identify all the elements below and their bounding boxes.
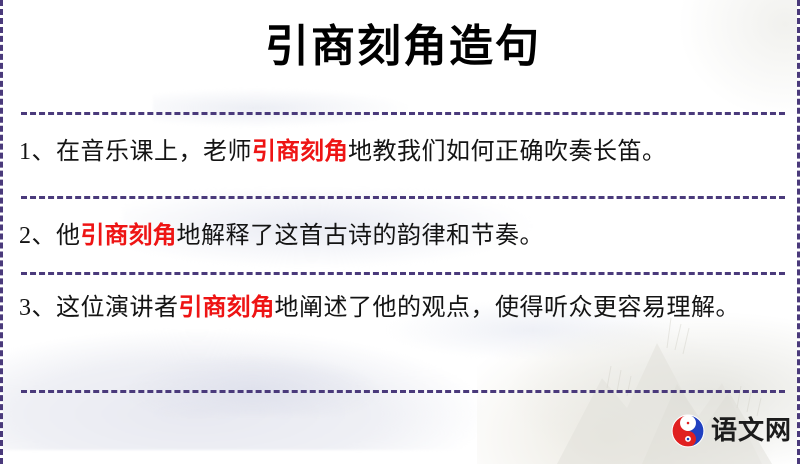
- sentence-text-before-2: 他: [56, 223, 81, 249]
- divider-1: [21, 112, 785, 115]
- divider-2: [21, 196, 785, 199]
- sentence-text-before-3: 这位演讲者: [56, 295, 179, 321]
- sentence-item-1: 1、在音乐课上，老师引商刻角地教我们如何正确吹奏长笛。: [19, 132, 783, 172]
- idiom-highlight-2: 引商刻角: [81, 223, 177, 249]
- sentence-item-2: 2、他引商刻角地解释了这首古诗的韵律和节奏。: [19, 216, 783, 256]
- sentence-text-after-3: 地阐述了他的观点，使得听众更容易理解。: [275, 295, 741, 321]
- worksheet-page: 引商刻角造句 1、在音乐课上，老师引商刻角地教我们如何正确吹奏长笛。 2、他引商…: [0, 0, 800, 464]
- logo-text: 语文网: [711, 418, 792, 444]
- page-title: 引商刻角造句: [3, 22, 800, 73]
- sentence-text-after-2: 地解释了这首古诗的韵律和节奏。: [177, 223, 545, 249]
- site-logo[interactable]: 语文网: [671, 414, 792, 448]
- divider-4: [21, 390, 785, 393]
- idiom-highlight-3: 引商刻角: [179, 295, 275, 321]
- sentence-number-3: 3、: [19, 295, 56, 321]
- sentence-number-1: 1、: [19, 139, 56, 165]
- yin-yang-fish-logo-icon: [671, 414, 705, 448]
- worksheet-content: 引商刻角造句 1、在音乐课上，老师引商刻角地教我们如何正确吹奏长笛。 2、他引商…: [3, 0, 800, 464]
- sentence-number-2: 2、: [19, 223, 56, 249]
- idiom-highlight-1: 引商刻角: [252, 139, 348, 165]
- sentence-text-after-1: 地教我们如何正确吹奏长笛。: [348, 139, 667, 165]
- sentence-item-3: 3、这位演讲者引商刻角地阐述了他的观点，使得听众更容易理解。: [19, 288, 783, 328]
- sentence-text-before-1: 在音乐课上，老师: [56, 139, 252, 165]
- divider-3: [21, 272, 785, 275]
